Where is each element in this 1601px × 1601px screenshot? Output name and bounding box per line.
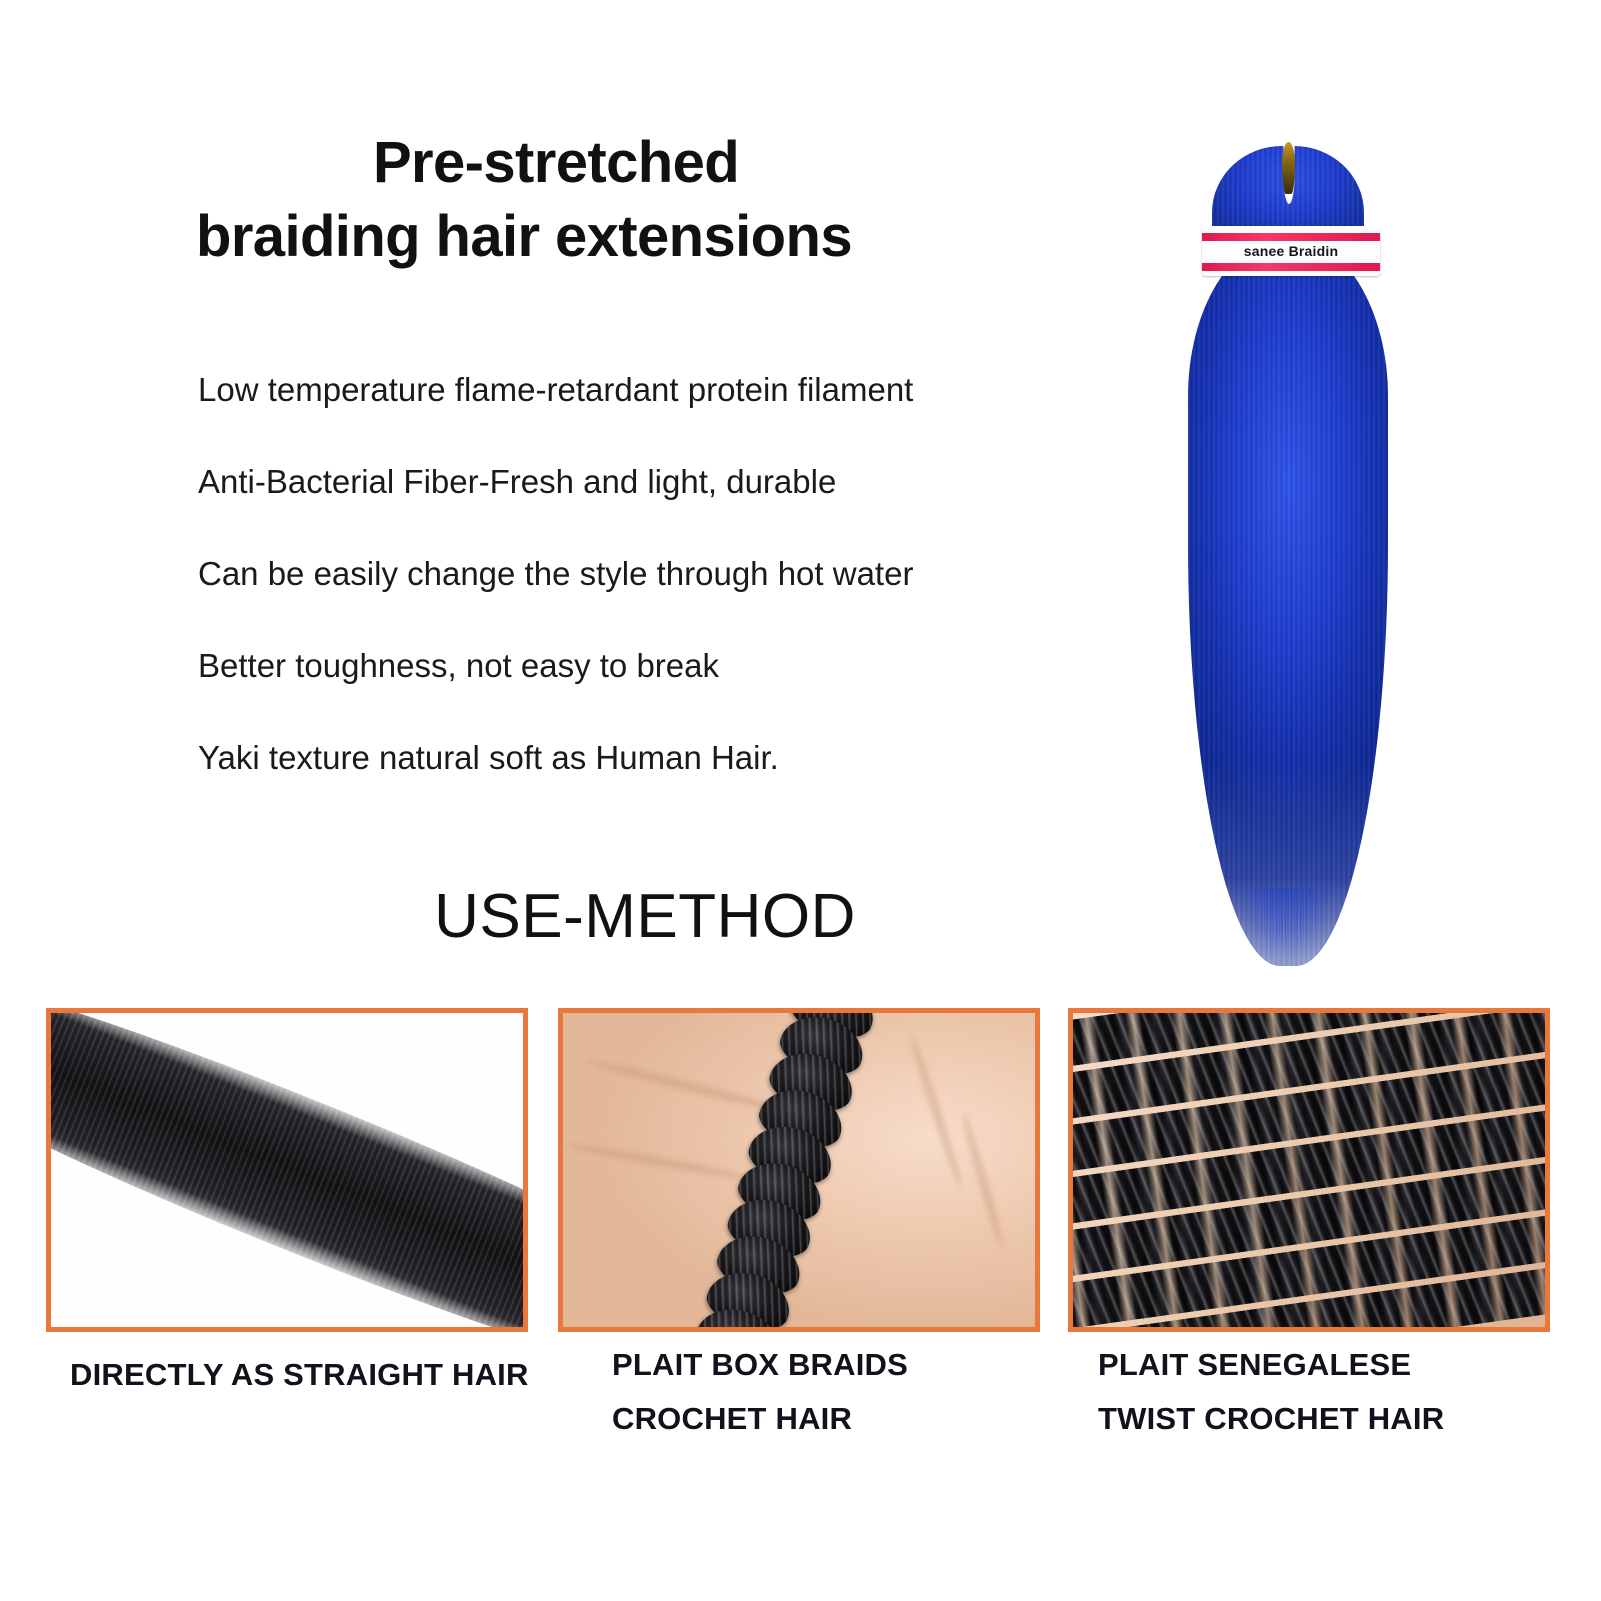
feature-item: Anti-Bacterial Fiber-Fresh and light, du…: [198, 462, 1098, 502]
box-braid-photo: [563, 1013, 1035, 1327]
palm-crease: [907, 1034, 965, 1189]
feature-list: Low temperature flame-retardant protein …: [198, 370, 1098, 830]
page-title: Pre-stretched braiding hair extensions: [196, 126, 1076, 274]
twist-rows-group: [1068, 1008, 1550, 1332]
feature-item: Yaki texture natural soft as Human Hair.: [198, 738, 1098, 778]
senegalese-twist-photo: [1073, 1013, 1545, 1327]
straight-hair-photo: [51, 1013, 523, 1327]
use-method-panel: [46, 1008, 528, 1332]
product-brand-band: sanee Braidin: [1202, 226, 1380, 276]
band-stripe-top: [1202, 233, 1380, 241]
use-method-caption: DIRECTLY AS STRAIGHT HAIR: [70, 1348, 540, 1402]
use-method-caption: PLAIT BOX BRAIDS CROCHET HAIR: [612, 1338, 1042, 1446]
band-brand-text: sanee Braidin: [1202, 243, 1380, 259]
product-hair-bundle-image: sanee Braidin: [1140, 128, 1430, 978]
page-title-line-1: Pre-stretched: [196, 126, 1076, 200]
page-title-line-2: braiding hair extensions: [196, 200, 1076, 274]
feature-item: Better toughness, not easy to break: [198, 646, 1098, 686]
band-stripe-bottom: [1202, 263, 1380, 271]
use-method-panel: [1068, 1008, 1550, 1332]
use-method-caption: PLAIT SENEGALESE TWIST CROCHET HAIR: [1098, 1338, 1498, 1446]
feature-item: Can be easily change the style through h…: [198, 554, 1098, 594]
palm-crease: [564, 1141, 751, 1183]
hair-bundle-tip: [1236, 888, 1336, 980]
feature-item: Low temperature flame-retardant protein …: [198, 370, 1098, 410]
use-method-heading: USE-METHOD: [0, 878, 1290, 956]
use-method-panel: [558, 1008, 1040, 1332]
hair-strand-shape: [46, 1008, 528, 1332]
palm-crease: [959, 1111, 1007, 1250]
gold-tie-loop-icon: [1282, 142, 1295, 194]
hair-bundle-body: [1188, 236, 1388, 966]
